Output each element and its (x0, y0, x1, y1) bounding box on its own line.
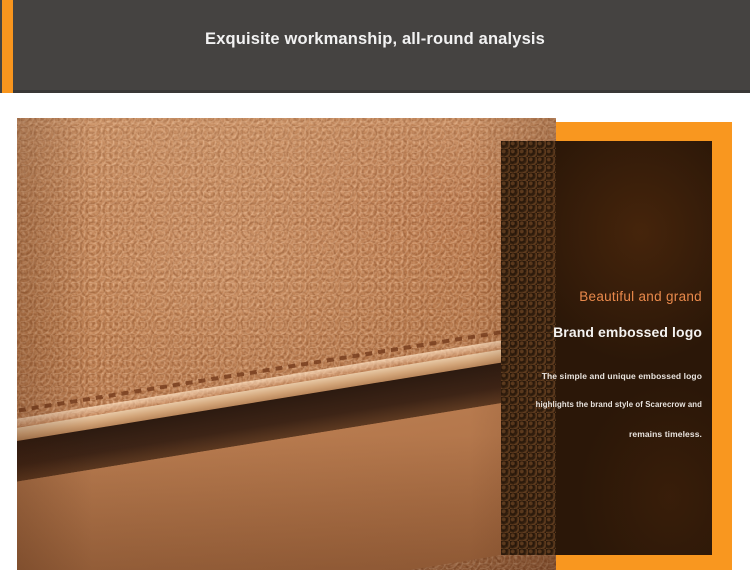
leather-vignette (17, 118, 556, 570)
info-body-line-3: remains timeless. (629, 429, 702, 439)
leather-product-photo (17, 118, 556, 570)
header-banner: Exquisite workmanship, all-round analysi… (0, 0, 750, 93)
info-panel-content: Beautiful and grand Brand embossed logo … (501, 141, 712, 555)
info-body-line-2: highlights the brand style of Scarecrow … (536, 400, 702, 409)
product-feature-stage: Beautiful and grand Brand embossed logo … (0, 93, 750, 577)
info-headline: Brand embossed logo (553, 324, 702, 340)
info-panel: Beautiful and grand Brand embossed logo … (501, 141, 712, 555)
info-eyebrow: Beautiful and grand (579, 289, 702, 304)
info-body-line-1: The simple and unique embossed logo (542, 371, 702, 381)
page-title: Exquisite workmanship, all-round analysi… (0, 0, 750, 78)
